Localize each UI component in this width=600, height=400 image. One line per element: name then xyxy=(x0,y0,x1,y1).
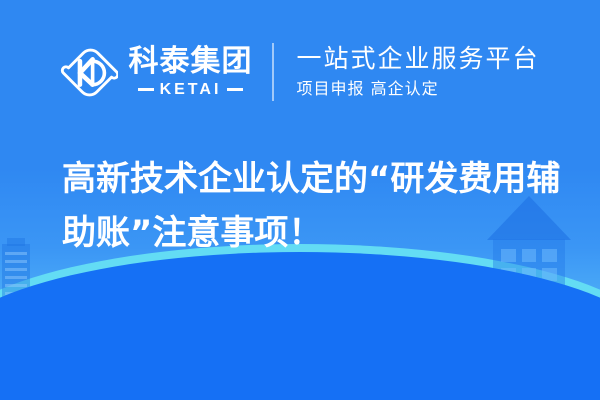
logo-name-en: KETAI xyxy=(160,82,222,98)
promo-banner: 科泰集团 KETAI 一站式企业服务平台 项目申报 高企认定 高新技术企业认定的… xyxy=(0,0,600,400)
brand-logo[interactable]: 科泰集团 KETAI xyxy=(60,43,252,101)
header-tagline: 一站式企业服务平台 项目申报 高企认定 xyxy=(296,45,539,98)
header-divider-icon xyxy=(272,43,274,101)
logo-name-en-row: KETAI xyxy=(128,82,252,98)
page-title: 高新技术企业认定的“研发费用辅助账”注意事项！ xyxy=(62,152,562,261)
banner-header: 科泰集团 KETAI 一站式企业服务平台 项目申报 高企认定 xyxy=(0,34,600,110)
logo-dash-right-icon xyxy=(227,88,243,91)
logo-name-cn: 科泰集团 xyxy=(128,47,252,77)
background-ground xyxy=(0,252,600,400)
tagline-sub: 项目申报 高企认定 xyxy=(296,79,539,98)
logo-dash-left-icon xyxy=(138,88,154,91)
ketai-diamond-monogram-icon xyxy=(60,43,118,101)
tagline-main: 一站式企业服务平台 xyxy=(296,45,539,73)
